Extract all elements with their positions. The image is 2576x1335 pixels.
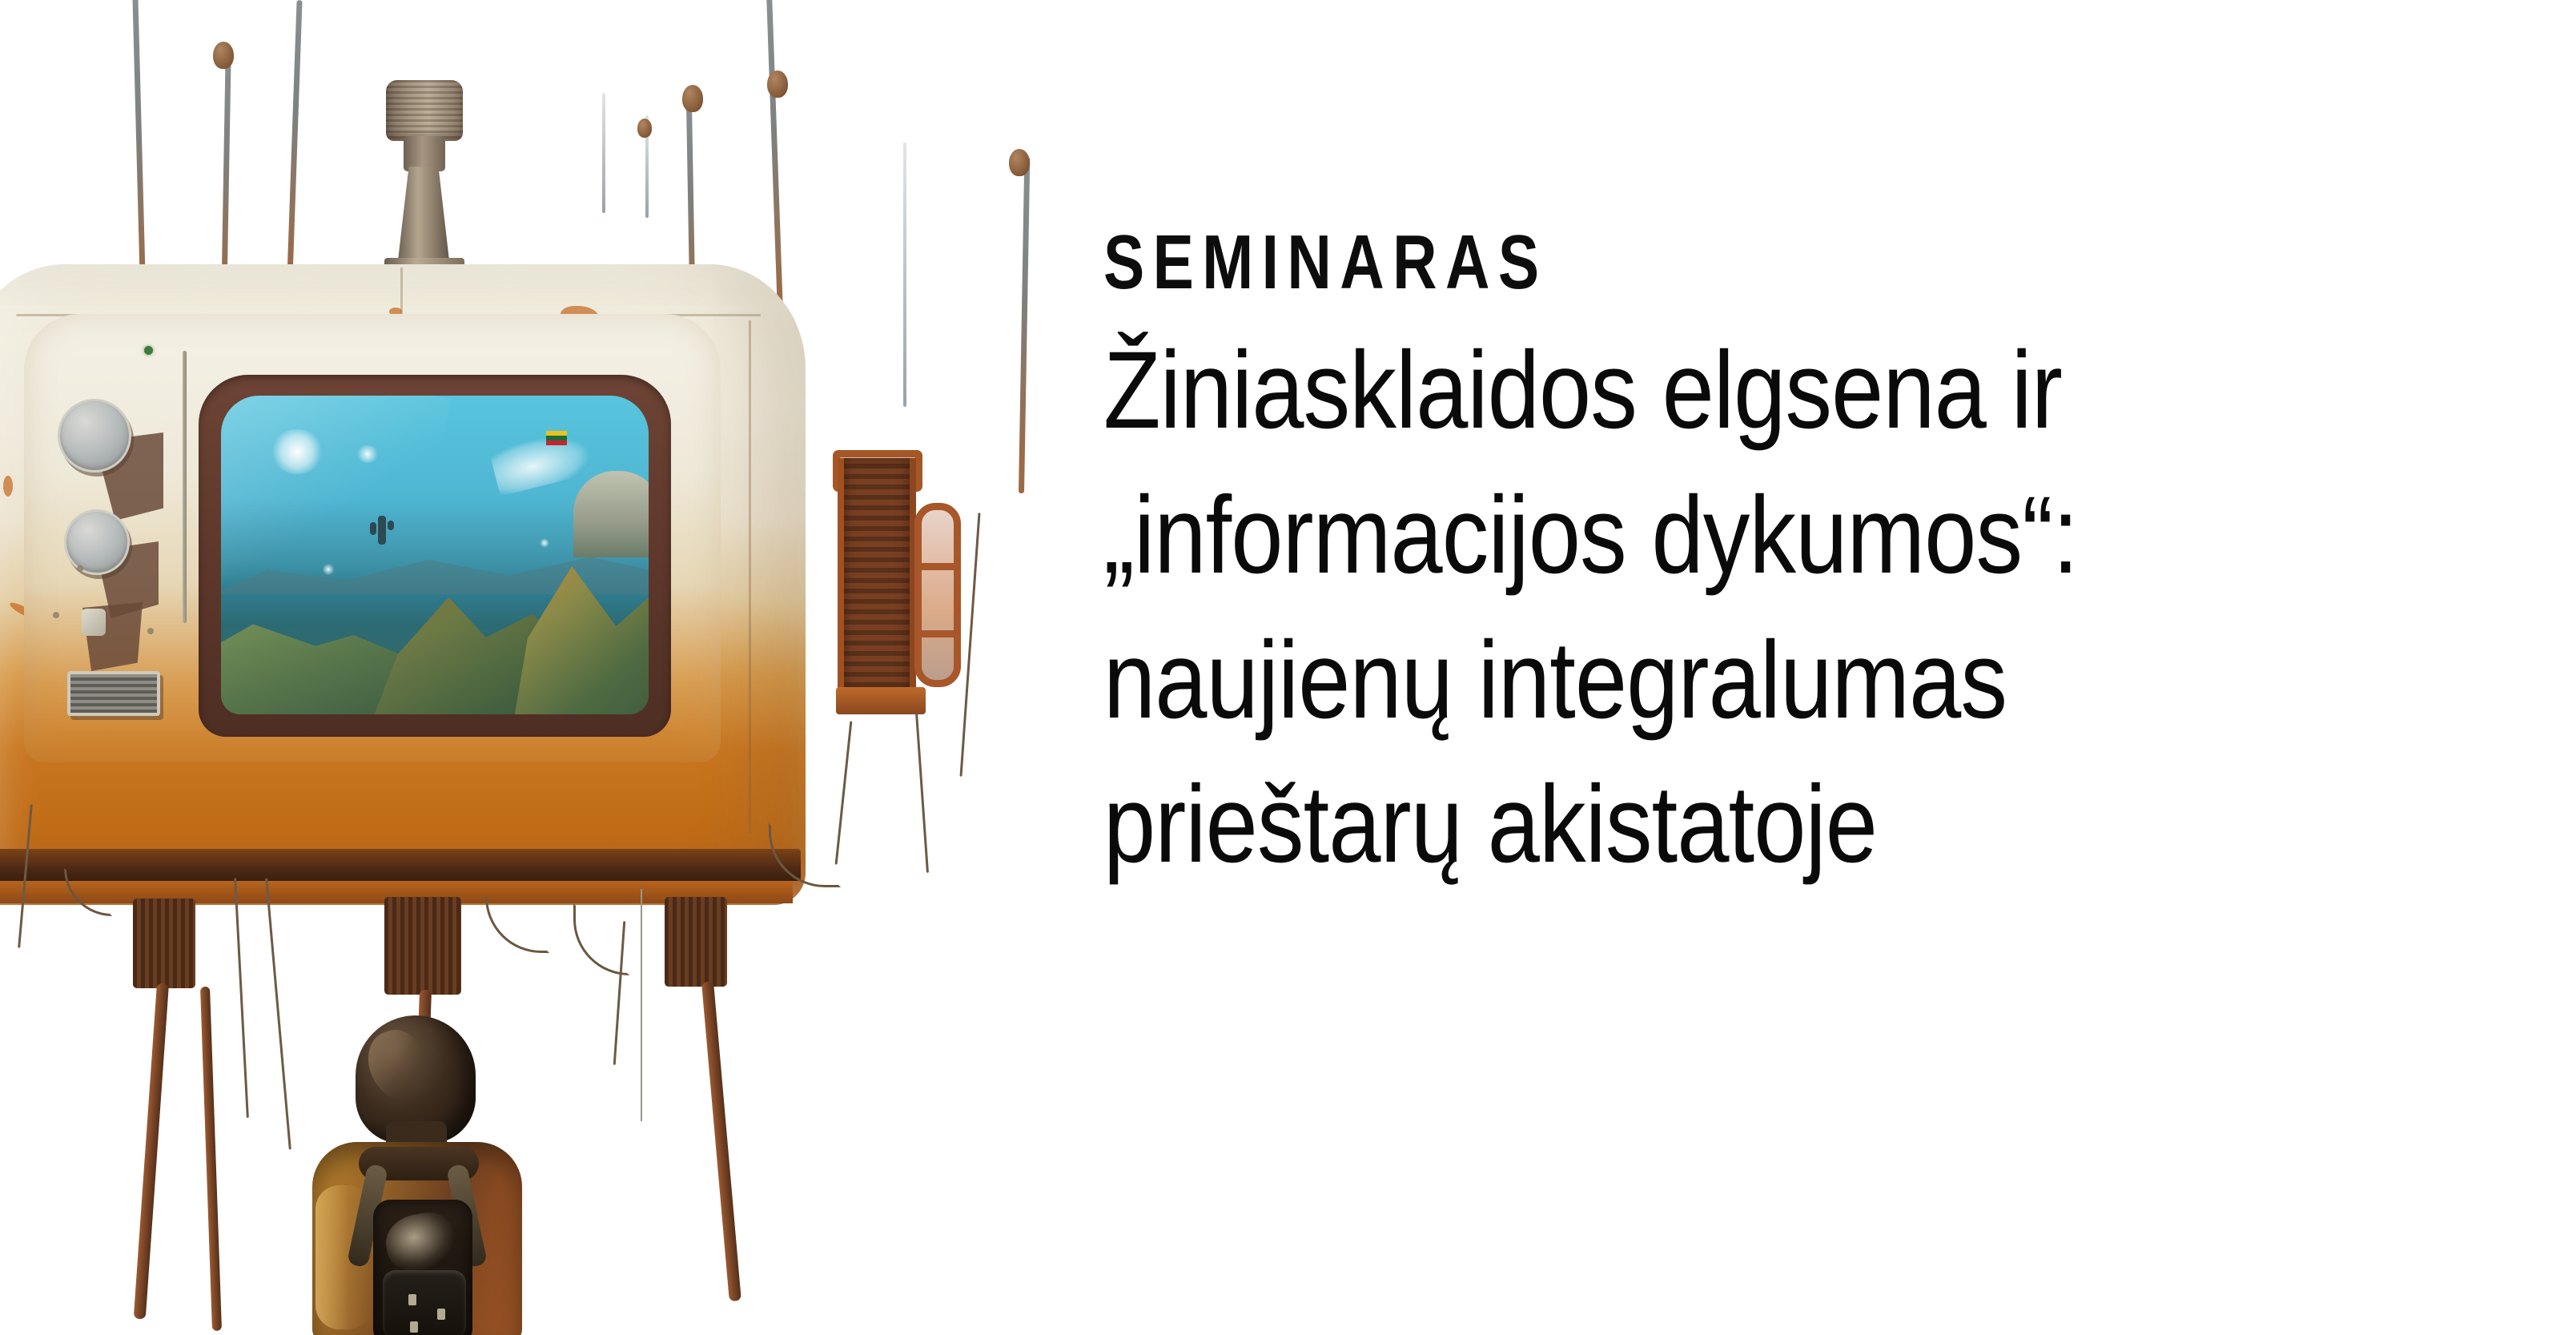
panel-screw: [53, 612, 59, 618]
leg-mount: [665, 897, 727, 987]
support-leg: [200, 987, 222, 1331]
screen-glare-dot: [322, 564, 335, 575]
antenna-tip: [767, 70, 788, 98]
hanging-wire: [835, 721, 853, 864]
seminar-text-block: SEMINARAS Žiniasklaidos elgsena ir „info…: [1103, 224, 2465, 898]
page-title: Žiniasklaidos elgsena ir „informacijos d…: [1103, 319, 2268, 898]
antenna-rod-thin: [602, 93, 605, 213]
hanging-wire: [64, 868, 112, 916]
control-knob[interactable]: [58, 399, 131, 472]
panel-wire: [183, 351, 187, 623]
hanging-wire: [485, 897, 549, 953]
seminar-poster: SEMINARAS Žiniasklaidos elgsena ir „info…: [0, 0, 2576, 1335]
backpack-clip: [437, 1309, 445, 1320]
seminar-eyebrow-label: SEMINARAS: [1103, 224, 2192, 301]
antenna-rod: [1019, 157, 1030, 493]
radiator-cage: [914, 503, 961, 687]
panel-screw: [147, 628, 154, 634]
control-knob[interactable]: [64, 509, 130, 575]
hanging-wire: [915, 713, 929, 873]
screen-flag-marker: [546, 431, 567, 445]
radiator-fins: [838, 458, 916, 698]
leg-mount: [384, 897, 461, 995]
sensor-dome-neck: [404, 136, 445, 171]
antenna-tip: [1009, 149, 1030, 176]
antenna-rod-thin: [903, 143, 906, 407]
shell-seam: [749, 320, 751, 833]
title-line-2: „informacijos dykumos“:: [1103, 464, 2268, 609]
antenna-rod: [287, 0, 303, 288]
support-leg: [134, 983, 169, 1319]
title-line-1: Žiniasklaidos elgsena ir: [1103, 319, 2268, 464]
sensor-dome-stem: [397, 167, 450, 267]
hanging-wire: [265, 879, 291, 1150]
backpack-pocket: [383, 1270, 466, 1335]
hanging-wire: [959, 513, 980, 776]
screen-glare-dot: [540, 538, 549, 548]
backpack-clip: [408, 1294, 416, 1305]
leg-mount: [133, 899, 195, 988]
backpack-clip: [410, 1321, 418, 1333]
crt-screen: [221, 396, 649, 714]
support-leg: [701, 981, 741, 1301]
screen-butte: [573, 471, 649, 557]
power-led: [144, 346, 153, 355]
screen-glare-dot: [356, 445, 380, 463]
antenna-tip: [682, 85, 703, 112]
illustration-retro-tv-machine: [0, 0, 1065, 1335]
chassis-bar: [0, 849, 801, 881]
title-line-3: naujienų integralumas: [1103, 609, 2268, 754]
antenna-tip: [637, 119, 652, 138]
child-figure: [296, 1015, 536, 1335]
sensor-dome-cap: [386, 80, 463, 141]
panel-screw: [77, 565, 83, 572]
screen-glare: [221, 396, 452, 634]
speaker-vent: [67, 671, 160, 716]
leg-foot: [737, 1291, 758, 1309]
hanging-wire: [234, 878, 249, 1118]
title-line-4: prieštarų akistatoje: [1103, 753, 2268, 898]
screen-sun-glare: [271, 429, 324, 474]
screen-cactus: [378, 516, 386, 545]
screen-cloud: [489, 428, 593, 496]
rust-speck: [3, 476, 13, 497]
radiator-foot: [836, 687, 926, 714]
hanging-wire: [641, 889, 642, 1121]
toggle-switch[interactable]: [82, 609, 106, 636]
antenna-tip: [213, 42, 234, 69]
